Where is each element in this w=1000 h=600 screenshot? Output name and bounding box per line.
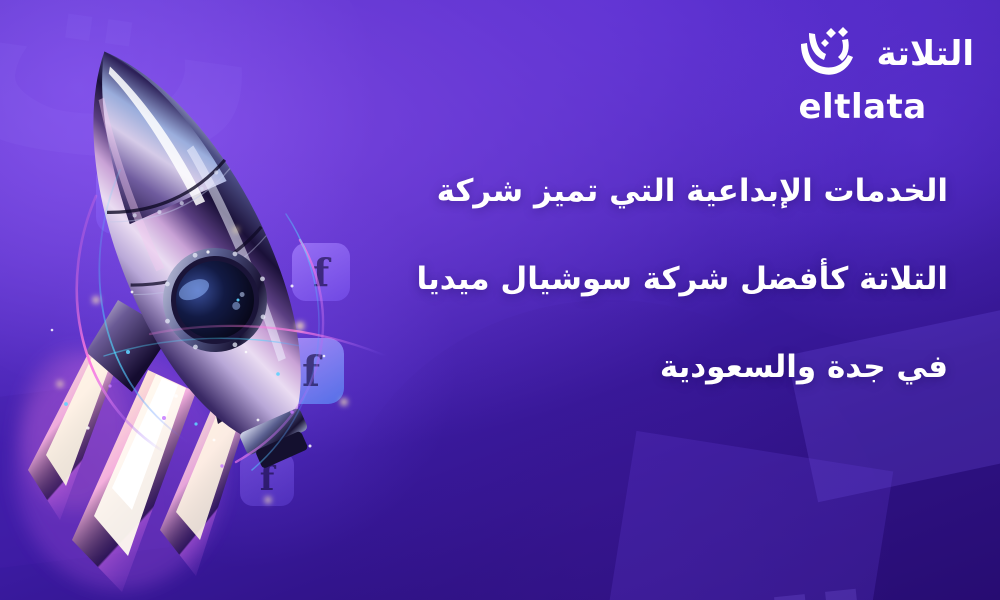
headline-line-3: في جدة والسعودية	[348, 352, 948, 383]
eltlata-calligraphy-mark-icon	[798, 26, 862, 82]
headline: الخدمات الإبداعية التي تميز شركة التلاتة…	[348, 176, 948, 383]
logo-arabic-wordmark: التلاتة	[876, 37, 974, 71]
brand-logo[interactable]: التلاتة eltlata	[798, 26, 974, 124]
promo-banner: ت ت ت f f f f	[0, 0, 1000, 600]
headline-line-1: الخدمات الإبداعية التي تميز شركة	[348, 176, 948, 207]
logo-latin-wordmark: eltlata	[798, 90, 926, 124]
headline-line-2: التلاتة كأفضل شركة سوشيال ميديا	[348, 264, 948, 295]
logo-watermark: ت	[602, 433, 1000, 600]
logo-top-row: التلاتة	[798, 26, 974, 82]
